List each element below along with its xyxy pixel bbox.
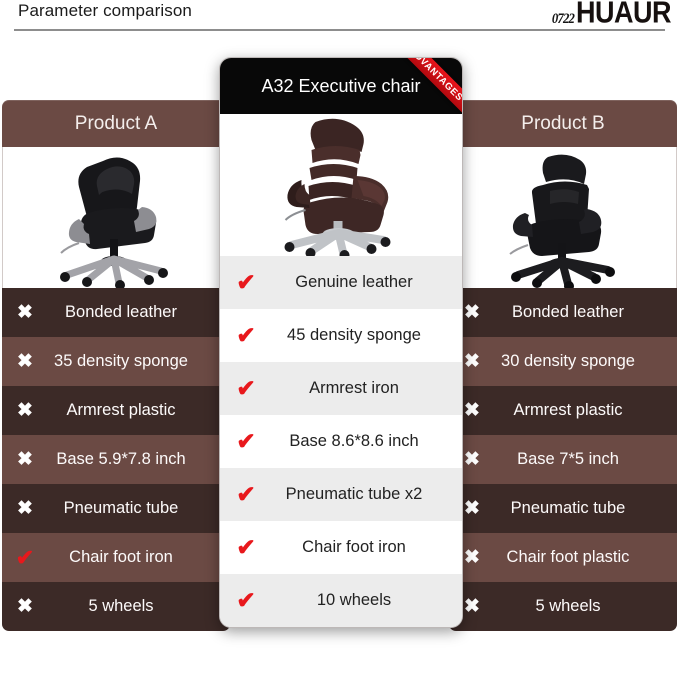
product-b-column: Product B ✖ bbox=[449, 100, 677, 631]
product-a-column: Product A ✖ Bonded le bbox=[2, 100, 230, 631]
check-icon: ✔ bbox=[2, 547, 48, 569]
featured-product-header: A32 Executive chair ADVANTAGES bbox=[220, 58, 462, 114]
feature-label: Chair foot plastic bbox=[495, 548, 677, 567]
check-icon: ✔ bbox=[220, 430, 272, 453]
featured-product-card: A32 Executive chair ADVANTAGES bbox=[219, 57, 463, 628]
feature-label: 5 wheels bbox=[495, 597, 677, 616]
feature-label: 10 wheels bbox=[272, 591, 462, 610]
feature-label: 5 wheels bbox=[48, 597, 230, 616]
feature-label: Armrest plastic bbox=[495, 401, 677, 420]
feature-label: Base 8.6*8.6 inch bbox=[272, 432, 462, 451]
cross-icon: ✖ bbox=[2, 499, 48, 518]
feature-row: ✔ Base 8.6*8.6 inch bbox=[220, 415, 462, 468]
feature-label: Base 7*5 inch bbox=[495, 450, 677, 469]
brand-logo: 0722 HUAUR bbox=[548, 0, 671, 28]
feature-row: ✖ Pneumatic tube bbox=[2, 484, 230, 533]
feature-row: ✖ 30 density sponge bbox=[449, 337, 677, 386]
check-icon: ✔ bbox=[220, 377, 272, 400]
check-icon: ✔ bbox=[220, 536, 272, 559]
check-icon: ✔ bbox=[220, 483, 272, 506]
feature-label: Base 5.9*7.8 inch bbox=[48, 450, 230, 469]
feature-row: ✖ 35 density sponge bbox=[2, 337, 230, 386]
header-divider bbox=[14, 29, 665, 31]
feature-label: Pneumatic tube bbox=[48, 499, 230, 518]
check-icon: ✔ bbox=[220, 589, 272, 612]
feature-row: ✖ 5 wheels bbox=[2, 582, 230, 631]
black-high-back-office-chair-illustration bbox=[488, 147, 638, 288]
feature-row: ✖ Bonded leather bbox=[2, 288, 230, 337]
product-b-feature-list: ✖ Bonded leather ✖ 30 density sponge ✖ A… bbox=[449, 288, 677, 631]
feature-row: ✔ Chair foot iron bbox=[220, 521, 462, 574]
featured-product-title: A32 Executive chair bbox=[261, 76, 420, 97]
page-title: Parameter comparison bbox=[18, 1, 192, 21]
feature-row: ✔ 10 wheels bbox=[220, 574, 462, 627]
feature-label: Chair foot iron bbox=[272, 538, 462, 557]
cross-icon: ✖ bbox=[2, 597, 48, 616]
product-b-title: Product B bbox=[521, 113, 604, 135]
cross-icon: ✖ bbox=[2, 401, 48, 420]
product-a-title: Product A bbox=[75, 113, 157, 135]
cross-icon: ✖ bbox=[2, 303, 48, 322]
feature-label: 35 density sponge bbox=[48, 352, 230, 371]
feature-label: Armrest plastic bbox=[48, 401, 230, 420]
brown-leather-executive-chair-illustration bbox=[254, 114, 429, 256]
feature-row: ✖ Chair foot plastic bbox=[449, 533, 677, 582]
featured-product-feature-list: ✔ Genuine leather ✔ 45 density sponge ✔ … bbox=[220, 256, 462, 627]
feature-row: ✖ Armrest plastic bbox=[2, 386, 230, 435]
feature-label: 45 density sponge bbox=[272, 326, 462, 345]
feature-label: Pneumatic tube x2 bbox=[272, 485, 462, 504]
feature-row: ✖ Bonded leather bbox=[449, 288, 677, 337]
feature-row: ✖ Armrest plastic bbox=[449, 386, 677, 435]
black-office-chair-illustration bbox=[41, 147, 191, 288]
feature-row: ✖ Base 7*5 inch bbox=[449, 435, 677, 484]
product-a-image bbox=[2, 147, 230, 288]
feature-row: ✔ 45 density sponge bbox=[220, 309, 462, 362]
feature-row: ✖ Base 5.9*7.8 inch bbox=[2, 435, 230, 484]
feature-label: Genuine leather bbox=[272, 273, 462, 292]
featured-product-image bbox=[220, 114, 462, 256]
feature-label: Pneumatic tube bbox=[495, 499, 677, 518]
brand-name-text: HUAUR bbox=[576, 0, 671, 28]
feature-row: ✖ Pneumatic tube bbox=[449, 484, 677, 533]
feature-label: 30 density sponge bbox=[495, 352, 677, 371]
brand-code-text: 0722 bbox=[552, 11, 574, 28]
cross-icon: ✖ bbox=[2, 352, 48, 371]
feature-label: Armrest iron bbox=[272, 379, 462, 398]
feature-row: ✔ Pneumatic tube x2 bbox=[220, 468, 462, 521]
check-icon: ✔ bbox=[220, 271, 272, 294]
feature-row: ✔ Chair foot iron bbox=[2, 533, 230, 582]
feature-row: ✔ Armrest iron bbox=[220, 362, 462, 415]
product-b-header: Product B bbox=[449, 100, 677, 147]
feature-label: Chair foot iron bbox=[48, 548, 230, 567]
page-header: Parameter comparison 0722 HUAUR bbox=[0, 0, 679, 30]
feature-row: ✖ 5 wheels bbox=[449, 582, 677, 631]
product-b-image bbox=[449, 147, 677, 288]
product-a-feature-list: ✖ Bonded leather ✖ 35 density sponge ✖ A… bbox=[2, 288, 230, 631]
check-icon: ✔ bbox=[220, 324, 272, 347]
feature-label: Bonded leather bbox=[495, 303, 677, 322]
product-a-header: Product A bbox=[2, 100, 230, 147]
feature-label: Bonded leather bbox=[48, 303, 230, 322]
cross-icon: ✖ bbox=[2, 450, 48, 469]
feature-row: ✔ Genuine leather bbox=[220, 256, 462, 309]
